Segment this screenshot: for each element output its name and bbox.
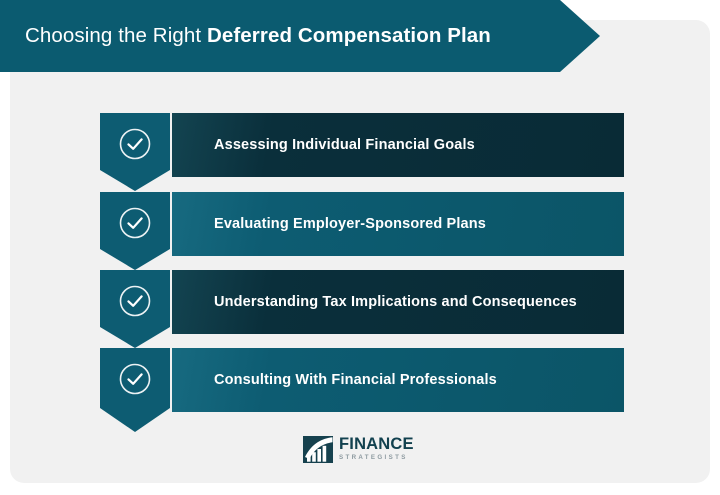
step-label: Consulting With Financial Professionals [172,373,497,388]
list-item: Consulting With Financial Professionals [100,348,624,412]
check-circle-icon [118,206,152,240]
step-text-bar: Understanding Tax Implications and Conse… [172,270,624,334]
steps-list: Assessing Individual Financial Goals Eva… [0,0,720,495]
step-label: Evaluating Employer-Sponsored Plans [172,217,486,232]
step-icon-block [100,192,170,270]
list-item: Assessing Individual Financial Goals [100,113,624,177]
infographic-root: Choosing the Right Deferred Compensation… [0,0,720,495]
step-label: Understanding Tax Implications and Conse… [172,295,577,310]
logo-secondary-text: STRATEGISTS [339,455,414,461]
brand-logo: FINANCE STRATEGISTS [302,431,422,467]
logo-wordmark: FINANCE STRATEGISTS [339,436,414,461]
step-text-bar: Assessing Individual Financial Goals [172,113,624,177]
bar-chart-arrow-icon [302,434,334,464]
check-circle-icon [118,284,152,318]
step-icon-block [100,113,170,191]
check-circle-icon [118,362,152,396]
step-icon-block [100,348,170,432]
logo-primary-text: FINANCE [339,436,414,453]
step-label: Assessing Individual Financial Goals [172,138,475,153]
step-text-bar: Consulting With Financial Professionals [172,348,624,412]
check-circle-icon [118,127,152,161]
step-icon-block [100,270,170,348]
list-item: Evaluating Employer-Sponsored Plans [100,192,624,256]
list-item: Understanding Tax Implications and Conse… [100,270,624,334]
step-text-bar: Evaluating Employer-Sponsored Plans [172,192,624,256]
